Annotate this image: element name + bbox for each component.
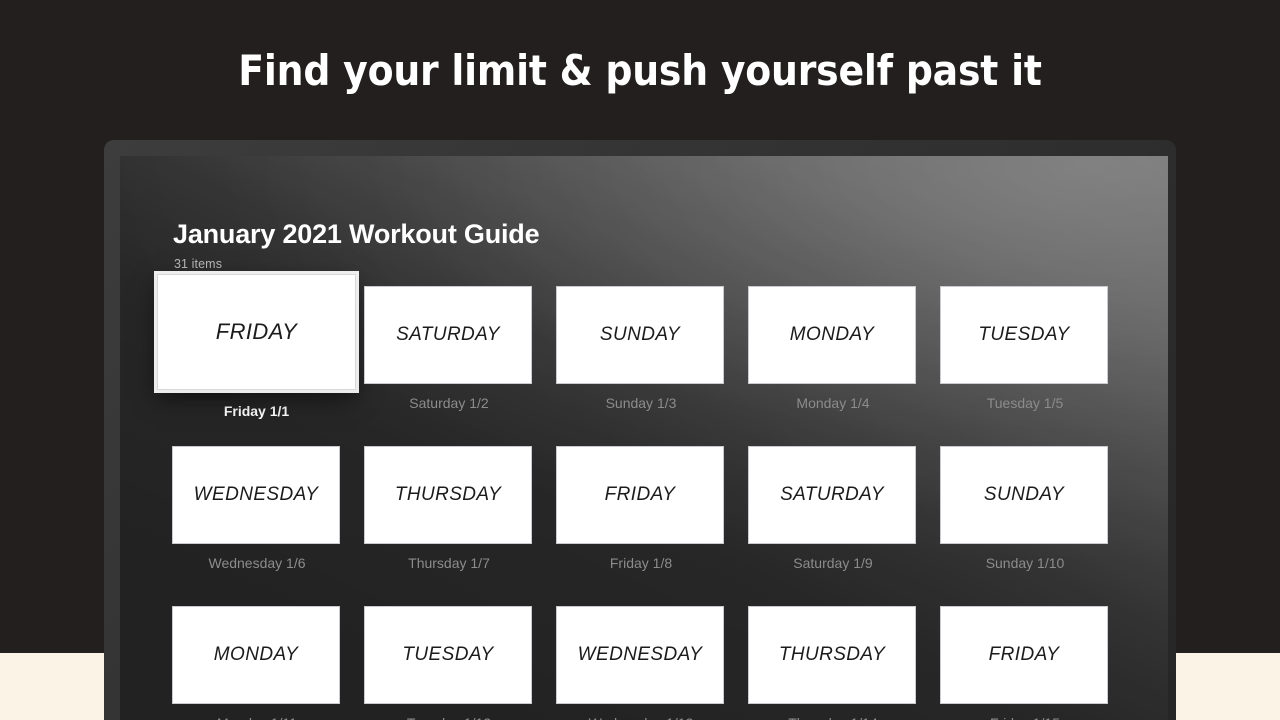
- day-card-day-word: TUESDAY: [978, 324, 1069, 346]
- day-card-day-word: MONDAY: [214, 644, 298, 666]
- workout-guide-app: January 2021 Workout Guide 31 items FRID…: [120, 156, 1168, 720]
- day-card[interactable]: MONDAYMonday 1/4: [748, 286, 918, 411]
- day-card-thumbnail[interactable]: FRIDAY: [556, 446, 724, 544]
- day-card-row: WEDNESDAYWednesday 1/6THURSDAYThursday 1…: [172, 446, 1152, 606]
- day-card-day-word: MONDAY: [790, 324, 874, 346]
- day-card-thumbnail[interactable]: MONDAY: [748, 286, 916, 384]
- guide-item-count: 31 items: [174, 257, 222, 271]
- day-card[interactable]: WEDNESDAYWednesday 1/6: [172, 446, 342, 571]
- decor-band-left: [0, 653, 104, 720]
- day-card-row: FRIDAYFriday 1/1SATURDAYSaturday 1/2SUND…: [172, 286, 1152, 446]
- day-card-thumbnail[interactable]: TUESDAY: [364, 606, 532, 704]
- day-card-grid: FRIDAYFriday 1/1SATURDAYSaturday 1/2SUND…: [172, 286, 1152, 720]
- day-card[interactable]: SATURDAYSaturday 1/2: [364, 286, 534, 411]
- day-card[interactable]: FRIDAYFriday 1/8: [556, 446, 726, 571]
- day-card[interactable]: MONDAYMonday 1/11: [172, 606, 342, 720]
- day-card-label: Wednesday 1/13: [556, 715, 726, 720]
- day-card-label: Friday 1/15: [940, 715, 1110, 720]
- day-card[interactable]: WEDNESDAYWednesday 1/13: [556, 606, 726, 720]
- day-card[interactable]: FRIDAYFriday 1/15: [940, 606, 1110, 720]
- day-card-day-word: FRIDAY: [989, 644, 1060, 666]
- day-card[interactable]: SUNDAYSunday 1/10: [940, 446, 1110, 571]
- day-card-label: Monday 1/11: [172, 715, 342, 720]
- day-card[interactable]: TUESDAYTuesday 1/5: [940, 286, 1110, 411]
- day-card-label: Thursday 1/7: [364, 555, 534, 571]
- day-card[interactable]: SUNDAYSunday 1/3: [556, 286, 726, 411]
- day-card-thumbnail[interactable]: SATURDAY: [364, 286, 532, 384]
- decor-band-right: [1176, 653, 1280, 720]
- day-card-day-word: WEDNESDAY: [194, 484, 319, 506]
- day-card[interactable]: TUESDAYTuesday 1/12: [364, 606, 534, 720]
- device-frame-mockup: January 2021 Workout Guide 31 items FRID…: [104, 140, 1176, 720]
- day-card-day-word: SUNDAY: [600, 324, 680, 346]
- day-card-thumbnail[interactable]: MONDAY: [172, 606, 340, 704]
- day-card-day-word: THURSDAY: [779, 644, 885, 666]
- day-card-label: Tuesday 1/12: [364, 715, 534, 720]
- day-card-label: Tuesday 1/5: [940, 395, 1110, 411]
- day-card-thumbnail[interactable]: WEDNESDAY: [556, 606, 724, 704]
- day-card-thumbnail[interactable]: THURSDAY: [748, 606, 916, 704]
- day-card-row: MONDAYMonday 1/11TUESDAYTuesday 1/12WEDN…: [172, 606, 1152, 720]
- day-card-thumbnail[interactable]: SUNDAY: [940, 446, 1108, 544]
- day-card[interactable]: THURSDAYThursday 1/14: [748, 606, 918, 720]
- day-card-thumbnail[interactable]: SUNDAY: [556, 286, 724, 384]
- day-card[interactable]: FRIDAYFriday 1/1: [172, 274, 342, 419]
- day-card-label: Wednesday 1/6: [172, 555, 342, 571]
- day-card-label: Friday 1/1: [157, 403, 356, 419]
- device-screen: January 2021 Workout Guide 31 items FRID…: [120, 156, 1168, 720]
- day-card-thumbnail[interactable]: FRIDAY: [157, 274, 356, 390]
- day-card-day-word: SATURDAY: [780, 484, 884, 506]
- day-card-day-word: TUESDAY: [402, 644, 493, 666]
- day-card-day-word: THURSDAY: [395, 484, 501, 506]
- day-card-day-word: WEDNESDAY: [578, 644, 703, 666]
- day-card-label: Sunday 1/10: [940, 555, 1110, 571]
- day-card-label: Saturday 1/9: [748, 555, 918, 571]
- day-card[interactable]: SATURDAYSaturday 1/9: [748, 446, 918, 571]
- day-card-label: Sunday 1/3: [556, 395, 726, 411]
- guide-title: January 2021 Workout Guide: [173, 219, 539, 250]
- day-card-thumbnail[interactable]: WEDNESDAY: [172, 446, 340, 544]
- day-card-thumbnail[interactable]: FRIDAY: [940, 606, 1108, 704]
- day-card-thumbnail[interactable]: TUESDAY: [940, 286, 1108, 384]
- slide-stage: Find your limit & push yourself past it …: [0, 0, 1280, 720]
- day-card-label: Friday 1/8: [556, 555, 726, 571]
- day-card-label: Saturday 1/2: [364, 395, 534, 411]
- day-card-day-word: SUNDAY: [984, 484, 1064, 506]
- day-card-label: Monday 1/4: [748, 395, 918, 411]
- day-card-thumbnail[interactable]: SATURDAY: [748, 446, 916, 544]
- day-card-day-word: FRIDAY: [216, 319, 297, 345]
- day-card-thumbnail[interactable]: THURSDAY: [364, 446, 532, 544]
- day-card[interactable]: THURSDAYThursday 1/7: [364, 446, 534, 571]
- day-card-day-word: SATURDAY: [396, 324, 500, 346]
- page-headline: Find your limit & push yourself past it: [0, 48, 1280, 94]
- day-card-label: Thursday 1/14: [748, 715, 918, 720]
- day-card-day-word: FRIDAY: [605, 484, 676, 506]
